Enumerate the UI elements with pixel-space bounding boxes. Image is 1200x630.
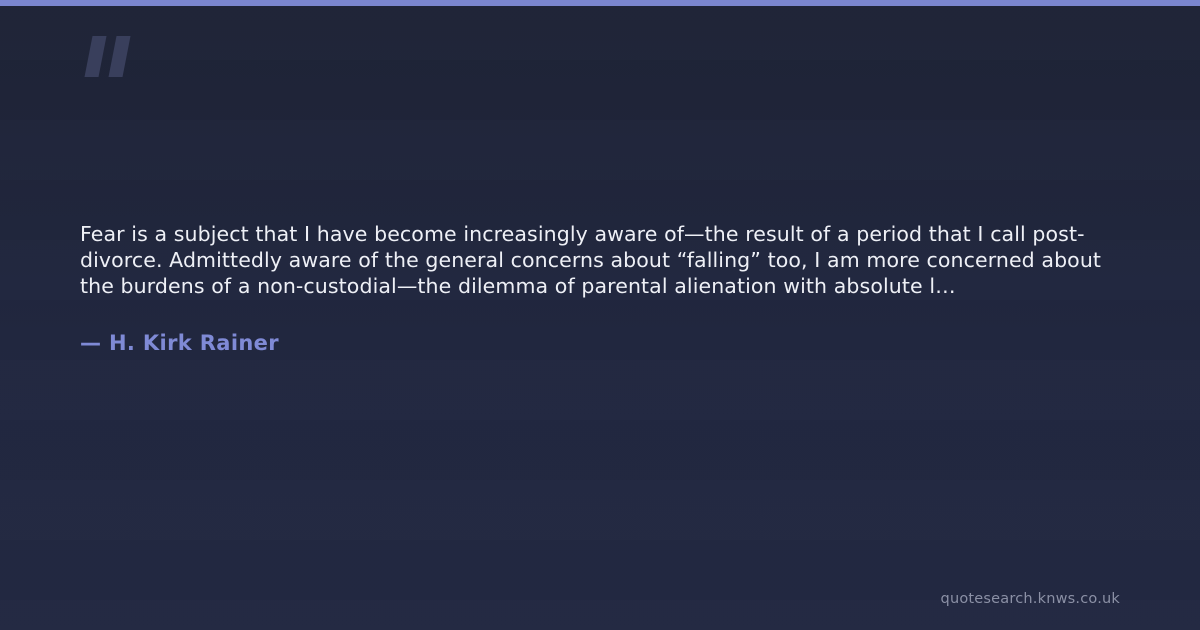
site-watermark: quotesearch.knws.co.uk bbox=[941, 590, 1120, 608]
quote-text: Fear is a subject that I have become inc… bbox=[80, 222, 1128, 299]
top-accent-bar bbox=[0, 0, 1200, 6]
double-quote-icon bbox=[80, 36, 136, 84]
quote-attribution: — H. Kirk Rainer bbox=[80, 299, 1128, 356]
quote-card: Fear is a subject that I have become inc… bbox=[0, 0, 1200, 630]
quote-content: Fear is a subject that I have become inc… bbox=[80, 222, 1128, 356]
